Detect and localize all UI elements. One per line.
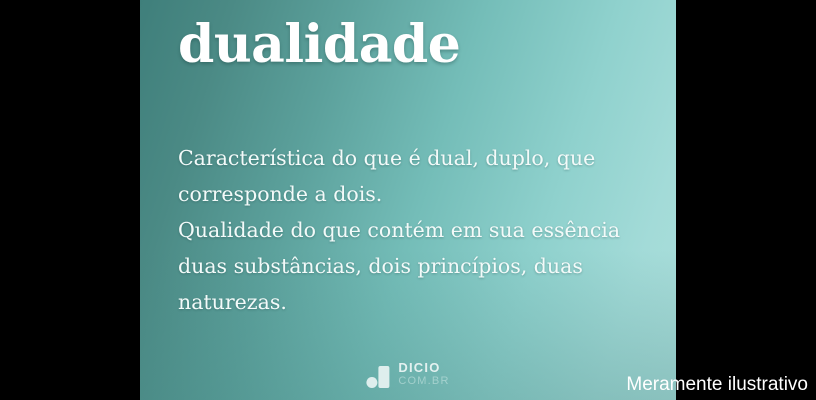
dicio-logo: DICIO COM.BR: [366, 361, 449, 388]
caption-text: Meramente ilustrativo: [626, 374, 808, 396]
logo-bar-icon: [378, 366, 389, 388]
definition-list: Característica do que é dual, duplo, que…: [178, 140, 648, 320]
dicio-logo-text: DICIO COM.BR: [398, 361, 449, 388]
definition-item: Característica do que é dual, duplo, que…: [178, 140, 648, 212]
definition-item: Qualidade do que contém em sua essência …: [178, 212, 648, 320]
definition-card-content: dualidade Característica do que é dual, …: [140, 0, 676, 400]
video-frame: dualidade Característica do que é dual, …: [0, 0, 816, 400]
dicio-logo-mark-icon: [366, 366, 389, 388]
page-title: dualidade: [178, 18, 460, 73]
logo-circle-icon: [366, 377, 377, 388]
logo-brand-name: DICIO: [398, 361, 449, 374]
logo-brand-domain: COM.BR: [398, 376, 449, 387]
definition-card: dualidade Característica do que é dual, …: [140, 0, 676, 400]
